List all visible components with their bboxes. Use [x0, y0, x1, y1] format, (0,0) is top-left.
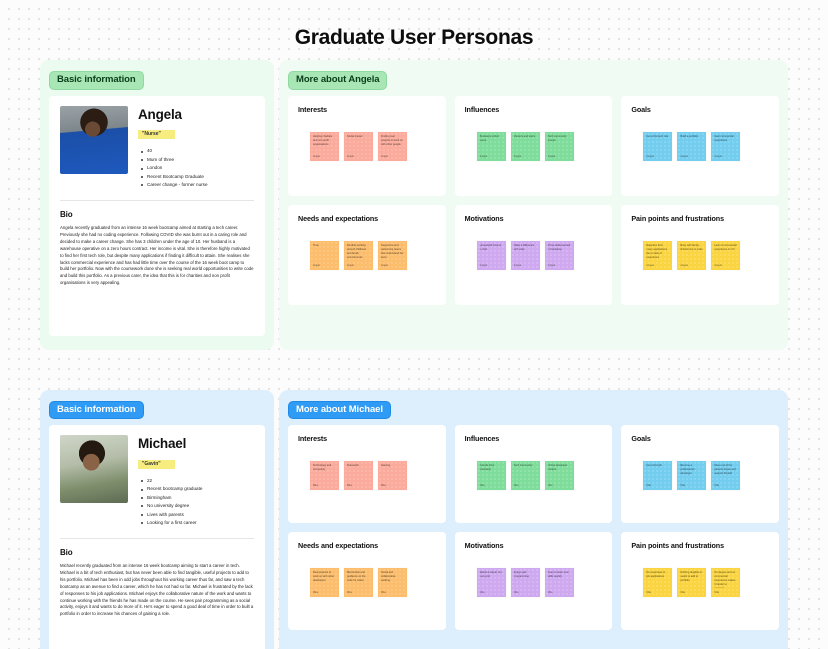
sticky-note-group: Get a first tech roleAngelaBuild a portf… — [631, 132, 769, 161]
sticky-note[interactable]: Flexible working around childcare and fa… — [344, 241, 373, 270]
sticky-note-author: Angela — [313, 155, 320, 158]
persona-quote-tag: "Gavin" — [138, 460, 175, 469]
category-title: Pain points and frustrations — [631, 541, 769, 550]
persona-name: Michael — [138, 437, 254, 452]
sticky-note[interactable]: GamingMike — [378, 461, 407, 490]
category-title: Needs and expectations — [298, 214, 436, 223]
sticky-note-text: No degree and no commercial experience m… — [714, 571, 737, 588]
sticky-note-author: Mike — [646, 484, 651, 487]
sticky-note-text: Gain commercial experience — [714, 135, 737, 143]
category-card: MotivationsHousehold income is vitalAnge… — [455, 205, 613, 305]
sticky-note[interactable]: Real projects to work on with other deve… — [310, 568, 339, 597]
persona-section-michael: Basic informationMichael"Gavin"22Recent … — [0, 390, 828, 649]
basic-information-panel-angela: Basic informationAngela"Nurse"40Mum of t… — [40, 60, 274, 350]
sticky-note-text: Teamwork — [347, 464, 370, 468]
sticky-note[interactable]: Finding real projects to work on with ot… — [378, 132, 407, 161]
sticky-note-author: Angela — [381, 264, 388, 267]
basic-information-panel-michael: Basic informationMichael"Gavin"22Recent … — [40, 390, 274, 649]
persona-attribute: Looking for a first career — [147, 519, 254, 527]
sticky-note-text: Mentorship and guidance on the code he w… — [347, 571, 370, 583]
sticky-note-author: Angela — [548, 155, 555, 158]
persona-attribute: 22 — [147, 477, 254, 485]
category-title: Motivations — [465, 541, 603, 550]
sticky-note-text: Move out of his parents house and suppor… — [714, 464, 737, 476]
sticky-note-author: Mike — [680, 591, 685, 594]
sticky-note-group: Real projects to work on with other deve… — [298, 568, 436, 597]
sticky-note-author: Angela — [514, 155, 521, 158]
category-card: Pain points and frustrationsNo responses… — [621, 532, 779, 630]
sticky-note-author: Mike — [514, 591, 519, 594]
sticky-note-author: Angela — [714, 155, 721, 158]
more-about-panel-angela: More about AngelaInterestsHelping charit… — [279, 60, 788, 350]
persona-attribute: Career change - former nurse — [147, 181, 254, 189]
sticky-note[interactable]: TeamworkMike — [344, 461, 373, 490]
sticky-note-text: Online developer content — [548, 464, 571, 472]
category-card: Needs and expectationsTimeAngelaFlexible… — [288, 205, 446, 305]
persona-detail-card: Michael"Gavin"22Recent bootcamp graduate… — [49, 425, 265, 649]
sticky-note-group: TimeAngelaFlexible working around childc… — [298, 241, 436, 270]
sticky-note[interactable]: Household income is vitalAngela — [477, 241, 506, 270]
persona-attribute: London — [147, 164, 254, 172]
persona-attribute: No university degree — [147, 502, 254, 510]
sticky-note-author: Mike — [714, 591, 719, 594]
sticky-note-author: Mike — [680, 484, 685, 487]
sticky-note-group: Helping charities and non profit organis… — [298, 132, 436, 161]
sticky-note-text: Get a first job — [646, 464, 669, 468]
sticky-note[interactable]: Helping charities and non profit organis… — [310, 132, 339, 161]
sticky-note-group: Bootcamp cohort peersAngelaMentors and t… — [465, 132, 603, 161]
sticky-note-author: Angela — [714, 264, 721, 267]
sticky-note[interactable]: Friends from bootcampMike — [477, 461, 506, 490]
sticky-note-text: Flexible working around childcare and fa… — [347, 244, 370, 260]
basic-information-tag[interactable]: Basic information — [49, 71, 144, 90]
sticky-note-text: Gaming — [381, 464, 404, 468]
sticky-note[interactable]: Nothing tangible or useful to add to por… — [677, 568, 706, 597]
sticky-note-text: Tech community groups — [548, 135, 571, 143]
sticky-note[interactable]: Mentors and tutorsAngela — [511, 132, 540, 161]
sticky-note[interactable]: Tech communityMike — [511, 461, 540, 490]
sticky-note-text: Household income is vital — [480, 244, 503, 252]
personas-canvas: Basic informationAngela"Nurse"40Mum of t… — [0, 60, 828, 649]
persona-attribute: Birmingham — [147, 494, 254, 502]
sticky-note-group: No responses to job applicationsMikeNoth… — [631, 568, 769, 597]
sticky-note[interactable]: Get a first jobMike — [643, 461, 672, 490]
page-title: Graduate User Personas — [0, 0, 828, 60]
sticky-note-text: No responses to job applications — [646, 571, 669, 579]
category-card: InfluencesFriends from bootcampMikeTech … — [455, 425, 613, 523]
category-title: Pain points and frustrations — [631, 214, 769, 223]
bio-text: Angela recently graduated from an intens… — [60, 225, 254, 288]
sticky-note-author: Mike — [347, 591, 352, 594]
sticky-note-text: Make a difference with code — [514, 244, 537, 252]
sticky-note-group: Technology and computingMikeTeamworkMike… — [298, 461, 436, 490]
sticky-note[interactable]: Supportive and welcoming teams that unde… — [378, 241, 407, 270]
sticky-note-text: Get a first tech role — [646, 135, 669, 139]
persona-header: Michael"Gavin"22Recent bootcamp graduate… — [60, 435, 254, 528]
avatar — [60, 106, 128, 174]
sticky-note[interactable]: Enjoys pair programmingMike — [511, 568, 540, 597]
category-card: InfluencesBootcamp cohort peersAngelaMen… — [455, 96, 613, 196]
more-about-panel-michael: More about MichaelInterestsTechnology an… — [279, 390, 788, 649]
sticky-note-text: Enjoys pair programming — [514, 571, 537, 579]
sticky-note-author: Angela — [480, 155, 487, 158]
sticky-note-author: Angela — [646, 155, 653, 158]
sticky-note-author: Angela — [680, 155, 687, 158]
sticky-note[interactable]: Wants a career not just a jobMike — [477, 568, 506, 597]
sticky-note-group: Wants a career not just a jobMikeEnjoys … — [465, 568, 603, 597]
category-card: GoalsGet a first jobMikeBecome a profess… — [621, 425, 779, 523]
sticky-note-text: Keen to learn new skills quickly — [548, 571, 571, 579]
category-title: Motivations — [465, 214, 603, 223]
sticky-note[interactable]: Prove skills learned in bootcampAngela — [545, 241, 574, 270]
sticky-note-text: Finding real projects to work on with ot… — [381, 135, 404, 147]
sticky-note-author: Angela — [313, 264, 320, 267]
category-card: InterestsTechnology and computingMikeTea… — [288, 425, 446, 523]
sticky-note-author: Mike — [714, 484, 719, 487]
sticky-note-text: Time — [313, 244, 336, 248]
persona-attribute: Recent Bootcamp Graduate — [147, 173, 254, 181]
category-title: Interests — [298, 105, 436, 114]
sticky-note-author: Mike — [381, 484, 386, 487]
sticky-note[interactable]: Gain commercial experienceAngela — [711, 132, 740, 161]
persona-meta: Angela"Nurse"40Mum of threeLondonRecent … — [138, 106, 254, 190]
sticky-note-author: Angela — [548, 264, 555, 267]
sticky-note-author: Angela — [680, 264, 687, 267]
sticky-note-text: Lack of commercial experience on CV — [714, 244, 737, 252]
sticky-note-author: Mike — [313, 591, 318, 594]
persona-attribute: Recent bootcamp graduate — [147, 485, 254, 493]
sticky-note[interactable]: TimeAngela — [310, 241, 339, 270]
sticky-note[interactable]: Mentorship and guidance on the code he w… — [344, 568, 373, 597]
sticky-note-author: Mike — [347, 484, 352, 487]
persona-attribute-list: 40Mum of threeLondonRecent Bootcamp Grad… — [138, 147, 254, 189]
divider — [60, 200, 254, 201]
category-grid: InterestsTechnology and computingMikeTea… — [288, 425, 779, 630]
category-title: Needs and expectations — [298, 541, 436, 550]
sticky-note[interactable]: Bootcamp cohort peersAngela — [477, 132, 506, 161]
sticky-note[interactable]: Online developer contentMike — [545, 461, 574, 490]
persona-attribute-list: 22Recent bootcamp graduateBirminghamNo u… — [138, 477, 254, 528]
sticky-note[interactable]: Technology and computingMike — [310, 461, 339, 490]
sticky-note-author: Mike — [381, 591, 386, 594]
sticky-note-group: Household income is vitalAngelaMake a di… — [465, 241, 603, 270]
sticky-note[interactable]: Rejection from many applications due to … — [643, 241, 672, 270]
sticky-note-author: Mike — [313, 484, 318, 487]
sticky-note-author: Mike — [480, 484, 485, 487]
sticky-note-author: Angela — [514, 264, 521, 267]
sticky-note-text: Tech community — [514, 464, 537, 468]
sticky-note[interactable]: Social and collaborative workingMike — [378, 568, 407, 597]
persona-name: Angela — [138, 108, 254, 123]
sticky-note-author: Angela — [347, 155, 354, 158]
sticky-note-author: Angela — [347, 264, 354, 267]
category-title: Interests — [298, 434, 436, 443]
sticky-note-text: Wants a career not just a job — [480, 571, 503, 579]
sticky-note[interactable]: Build a portfolioAngela — [677, 132, 706, 161]
sticky-note[interactable]: Lack of commercial experience on CVAngel… — [711, 241, 740, 270]
category-title: Goals — [631, 105, 769, 114]
sticky-note[interactable]: Social impactAngela — [344, 132, 373, 161]
persona-attribute: Lives with parents — [147, 511, 254, 519]
category-card: Needs and expectationsReal projects to w… — [288, 532, 446, 630]
category-grid: InterestsHelping charities and non profi… — [288, 96, 779, 305]
sticky-note-author: Angela — [646, 264, 653, 267]
sticky-note[interactable]: Tech community groupsAngela — [545, 132, 574, 161]
persona-meta: Michael"Gavin"22Recent bootcamp graduate… — [138, 435, 254, 528]
sticky-note-text: Nothing tangible or useful to add to por… — [680, 571, 703, 583]
sticky-note[interactable]: No responses to job applicationsMike — [643, 568, 672, 597]
sticky-note-text: Real projects to work on with other deve… — [313, 571, 336, 583]
sticky-note-text: Supportive and welcoming teams that unde… — [381, 244, 404, 260]
sticky-note[interactable]: No degree and no commercial experience m… — [711, 568, 740, 597]
sticky-note-text: Bootcamp cohort peers — [480, 135, 503, 143]
more-about-tag[interactable]: More about Angela — [288, 71, 387, 90]
sticky-note-text: Technology and computing — [313, 464, 336, 472]
sticky-note-text: Become a professional developer — [680, 464, 703, 476]
sticky-note-group: Rejection from many applications due to … — [631, 241, 769, 270]
persona-attribute: 40 — [147, 147, 254, 155]
sticky-note-author: Mike — [646, 591, 651, 594]
persona-attribute: Mum of three — [147, 156, 254, 164]
sticky-note[interactable]: Get a first tech roleAngela — [643, 132, 672, 161]
sticky-note-text: Social and collaborative working — [381, 571, 404, 583]
persona-detail-card: Angela"Nurse"40Mum of threeLondonRecent … — [49, 96, 265, 336]
sticky-note-text: Rejection from many applications due to … — [646, 244, 669, 260]
sticky-note-author: Mike — [514, 484, 519, 487]
sticky-note-text: Build a portfolio — [680, 135, 703, 139]
sticky-note-text: Friends from bootcamp — [480, 464, 503, 472]
persona-quote-tag: "Nurse" — [138, 130, 175, 139]
category-title: Influences — [465, 105, 603, 114]
bio-text: Michael recently graduated from an inten… — [60, 563, 254, 619]
more-about-tag[interactable]: More about Michael — [288, 401, 391, 420]
category-card: Pain points and frustrationsRejection fr… — [621, 205, 779, 305]
persona-section-angela: Basic informationAngela"Nurse"40Mum of t… — [0, 60, 828, 350]
sticky-note-author: Angela — [381, 155, 388, 158]
sticky-note[interactable]: Make a difference with codeAngela — [511, 241, 540, 270]
sticky-note-text: Helping charities and non profit organis… — [313, 135, 336, 147]
sticky-note-author: Angela — [480, 264, 487, 267]
bio-heading: Bio — [60, 548, 254, 557]
sticky-note-group: Friends from bootcampMikeTech communityM… — [465, 461, 603, 490]
avatar — [60, 435, 128, 503]
category-card: InterestsHelping charities and non profi… — [288, 96, 446, 196]
category-title: Influences — [465, 434, 603, 443]
sticky-note[interactable]: Keen to learn new skills quicklyMike — [545, 568, 574, 597]
category-card: GoalsGet a first tech roleAngelaBuild a … — [621, 96, 779, 196]
sticky-note-text: Mentors and tutors — [514, 135, 537, 139]
sticky-note-author: Mike — [548, 591, 553, 594]
sticky-note-text: Busy with family, limited time to code — [680, 244, 703, 252]
persona-header: Angela"Nurse"40Mum of threeLondonRecent … — [60, 106, 254, 190]
bio-heading: Bio — [60, 210, 254, 219]
sticky-note-author: Mike — [548, 484, 553, 487]
sticky-note-author: Mike — [480, 591, 485, 594]
category-title: Goals — [631, 434, 769, 443]
divider — [60, 538, 254, 539]
basic-information-tag[interactable]: Basic information — [49, 401, 144, 420]
sticky-note[interactable]: Busy with family, limited time to codeAn… — [677, 241, 706, 270]
category-card: MotivationsWants a career not just a job… — [455, 532, 613, 630]
sticky-note-group: Get a first jobMikeBecome a professional… — [631, 461, 769, 490]
sticky-note[interactable]: Become a professional developerMike — [677, 461, 706, 490]
sticky-note-text: Social impact — [347, 135, 370, 139]
sticky-note[interactable]: Move out of his parents house and suppor… — [711, 461, 740, 490]
sticky-note-text: Prove skills learned in bootcamp — [548, 244, 571, 252]
